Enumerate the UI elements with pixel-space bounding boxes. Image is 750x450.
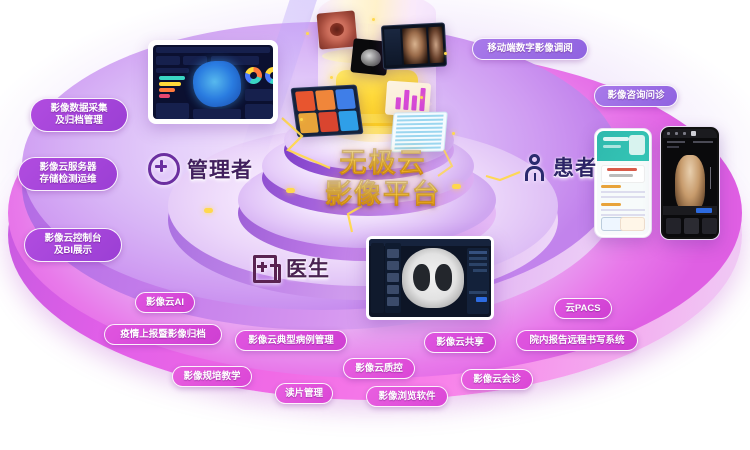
chip-doctor-2[interactable]: 影像云典型病例管理 <box>235 330 347 351</box>
chip-doctor-1[interactable]: 疫情上报暨影像归档 <box>104 324 222 345</box>
chip-doctor-6[interactable]: 影像浏览软件 <box>366 386 448 407</box>
role-admin-label: 管理者 <box>187 154 253 184</box>
patient-report-phone[interactable] <box>594 128 652 238</box>
xray-image-panel <box>381 22 447 69</box>
chip-patient-0[interactable]: 移动端数字影像调阅 <box>472 38 588 60</box>
chip-admin-2[interactable]: 影像云控制台 及BI展示 <box>24 228 122 262</box>
person-icon <box>524 154 546 181</box>
chip-doctor-0[interactable]: 影像云AI <box>135 292 195 313</box>
role-doctor[interactable]: 医生 <box>253 253 330 283</box>
pedestal-rim-accent <box>286 188 295 193</box>
chip-doctor-9[interactable]: 云PACS <box>554 298 612 319</box>
chip-admin-1[interactable]: 影像云服务器 存储检测运维 <box>18 157 118 191</box>
ct-viewer-monitor[interactable] <box>366 236 494 320</box>
role-patient[interactable]: 患者 <box>524 152 597 182</box>
circle-plus-icon <box>148 153 180 185</box>
chip-doctor-8[interactable]: 影像云会诊 <box>461 369 533 390</box>
platform-title-line2: 影像平台 <box>308 179 458 210</box>
document-plus-icon <box>253 255 279 281</box>
chip-admin-0[interactable]: 影像数据采集 及归档管理 <box>30 98 128 132</box>
platform-title-line1: 无极云 <box>308 148 458 179</box>
data-table-panel <box>390 112 448 153</box>
chip-doctor-4[interactable]: 读片管理 <box>275 383 333 404</box>
platform-title: 无极云 影像平台 <box>308 148 458 209</box>
bi-dashboard-monitor[interactable] <box>148 40 278 124</box>
chip-doctor-7[interactable]: 影像云共享 <box>424 332 496 353</box>
patient-3d-viewer-phone[interactable] <box>660 126 720 240</box>
disc-rim-accent <box>204 208 213 213</box>
endoscopy-image-panel <box>317 10 358 49</box>
role-doctor-label: 医生 <box>286 253 330 283</box>
chip-doctor-10[interactable]: 院内报告远程书写系统 <box>516 330 638 351</box>
app-tiles-panel <box>290 85 363 138</box>
chip-doctor-5[interactable]: 影像云质控 <box>343 358 415 379</box>
chip-patient-1[interactable]: 影像咨询问诊 <box>594 85 678 107</box>
infographic-canvas: 无极云 影像平台 管理者 医生 患者 影像数据采集 及归档管理影像云服务器 存储… <box>0 0 750 450</box>
role-admin[interactable]: 管理者 <box>148 153 253 185</box>
role-patient-label: 患者 <box>553 152 597 182</box>
chip-doctor-3[interactable]: 影像规培教学 <box>172 366 252 387</box>
